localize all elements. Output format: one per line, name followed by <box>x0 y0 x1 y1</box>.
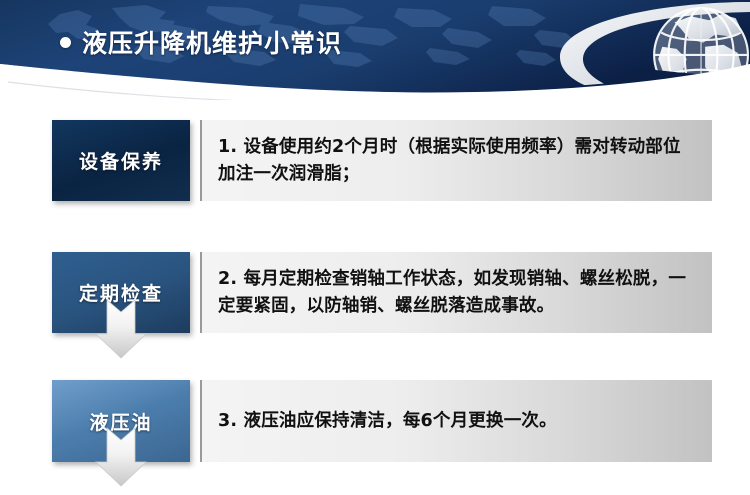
down-arrow-icon <box>95 426 147 488</box>
tip-content-text: 2. 每月定期检查销轴工作状态，如发现销轴、螺丝松脱，一定要紧固，以防轴销、螺丝… <box>218 266 698 319</box>
filled-circle-bullet-icon <box>60 37 71 48</box>
tip-content-panel-2: 2. 每月定期检查销轴工作状态，如发现销轴、螺丝松脱，一定要紧固，以防轴销、螺丝… <box>200 252 712 333</box>
connector-arrow-2 <box>95 426 147 488</box>
maintenance-tip-list: 设备保养 1. 设备使用约2个月时（根据实际使用频率）需对转动部位加注一次润滑脂… <box>0 100 750 495</box>
page-title-text: 液压升降机维护小常识 <box>82 24 342 60</box>
slide-canvas: 液压升降机维护小常识 设备保养 1. 设备使用约2个月时（根据实际使用频率）需对… <box>0 0 750 495</box>
down-arrow-icon <box>95 298 147 360</box>
tip-label-text: 设备保养 <box>79 147 163 174</box>
page-title: 液压升降机维护小常识 <box>60 22 342 62</box>
tip-content-text: 1. 设备使用约2个月时（根据实际使用频率）需对转动部位加注一次润滑脂； <box>218 134 698 187</box>
connector-arrow-1 <box>95 298 147 360</box>
tip-row-1: 设备保养 1. 设备使用约2个月时（根据实际使用频率）需对转动部位加注一次润滑脂… <box>0 120 750 201</box>
tip-content-text: 3. 液压油应保持清洁，每6个月更换一次。 <box>218 408 557 435</box>
tip-label-equipment-maintenance[interactable]: 设备保养 <box>52 120 190 201</box>
tip-content-panel-3: 3. 液压油应保持清洁，每6个月更换一次。 <box>200 380 712 462</box>
header-banner: 液压升降机维护小常识 <box>0 0 750 100</box>
tip-content-panel-1: 1. 设备使用约2个月时（根据实际使用频率）需对转动部位加注一次润滑脂； <box>200 120 712 201</box>
